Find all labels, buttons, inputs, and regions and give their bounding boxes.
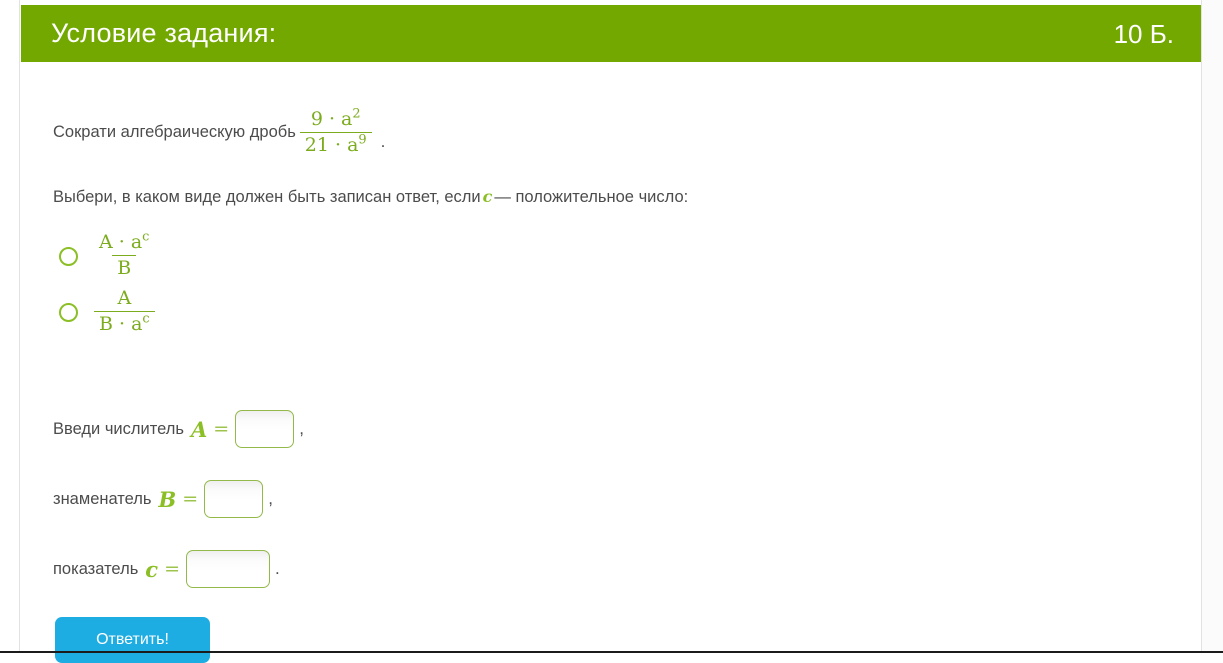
- answer-punct-a: ,: [294, 419, 304, 439]
- submit-answer-button[interactable]: Ответить!: [55, 617, 210, 663]
- statement-fraction: 9 · a2 21 · a9: [300, 110, 372, 156]
- denominator-exponent: 9: [358, 133, 366, 148]
- answer-punct-b: ,: [263, 489, 273, 509]
- answer-label-exponent: показатель: [53, 560, 138, 579]
- option-row-1[interactable]: A · ac B: [59, 228, 159, 284]
- statement-text: Сократи алгебраическую дробь: [53, 123, 296, 142]
- fraction-numerator: 9 · a2: [306, 110, 366, 132]
- option-1-numerator-exponent: c: [142, 230, 149, 245]
- numerator-input[interactable]: [235, 410, 294, 448]
- task-header-bar: Условие задания: 10 Б.: [21, 5, 1201, 62]
- content-column: Условие задания: 10 Б. Сократи алгебраич…: [21, 0, 1201, 653]
- choose-text-before: Выбери, в каком виде должен быть записан…: [53, 188, 481, 206]
- option-2-fraction: A B · ac: [94, 289, 155, 335]
- exponent-input[interactable]: [186, 550, 270, 588]
- statement-period: .: [381, 132, 386, 156]
- answer-row-numerator: Введи числитель A = ,: [53, 410, 304, 448]
- statement-line: Сократи алгебраическую дробь 9 · a2 21 ·…: [53, 110, 385, 156]
- page-title: Условие задания:: [51, 20, 276, 47]
- numerator-base: 9 · a: [311, 108, 353, 130]
- option-1-numerator-base: A · a: [99, 231, 142, 253]
- right-gutter: [1201, 0, 1223, 653]
- option-2-numerator: A: [112, 289, 136, 311]
- answer-variable-c: c: [138, 557, 161, 582]
- left-gutter: [0, 0, 20, 653]
- radio-option-1[interactable]: [59, 247, 78, 266]
- answer-label-numerator: Введи числитель: [53, 420, 184, 439]
- radio-option-2[interactable]: [59, 303, 78, 322]
- denominator-input[interactable]: [204, 480, 263, 518]
- choose-text-after: — положительное число:: [494, 188, 688, 206]
- option-2-numerator-base: A: [117, 287, 131, 309]
- answer-variable-a: A: [184, 417, 210, 442]
- option-1-denominator-base: B: [117, 257, 131, 279]
- option-1-numerator: A · ac: [94, 233, 154, 255]
- option-row-2[interactable]: A B · ac: [59, 284, 159, 340]
- choose-variable-c: c: [481, 187, 495, 206]
- task-page: Условие задания: 10 Б. Сократи алгебраич…: [0, 0, 1223, 653]
- answer-punct-c: .: [270, 559, 280, 579]
- choose-instruction: Выбери, в каком виде должен быть записан…: [53, 187, 688, 207]
- answer-row-exponent: показатель c = .: [53, 550, 280, 588]
- option-2-denominator-exponent: c: [142, 312, 149, 327]
- task-body: Сократи алгебраическую дробь 9 · a2 21 ·…: [21, 62, 1201, 653]
- option-1-denominator: B: [112, 255, 136, 279]
- answer-form-options: A · ac B A B · ac: [59, 228, 159, 340]
- equals-sign-a: =: [210, 418, 235, 440]
- equals-sign-c: =: [161, 558, 186, 580]
- option-2-denominator: B · ac: [94, 311, 155, 335]
- answer-label-denominator: знаменатель: [53, 490, 152, 509]
- points-badge: 10 Б.: [1114, 21, 1174, 47]
- fraction-denominator: 21 · a9: [300, 132, 372, 156]
- numerator-exponent: 2: [352, 107, 360, 122]
- option-2-denominator-base: B · a: [99, 313, 142, 335]
- equals-sign-b: =: [179, 488, 204, 510]
- answer-variable-b: B: [152, 487, 180, 512]
- answer-row-denominator: знаменатель B = ,: [53, 480, 273, 518]
- denominator-base: 21 · a: [305, 134, 359, 156]
- option-1-fraction: A · ac B: [94, 233, 154, 279]
